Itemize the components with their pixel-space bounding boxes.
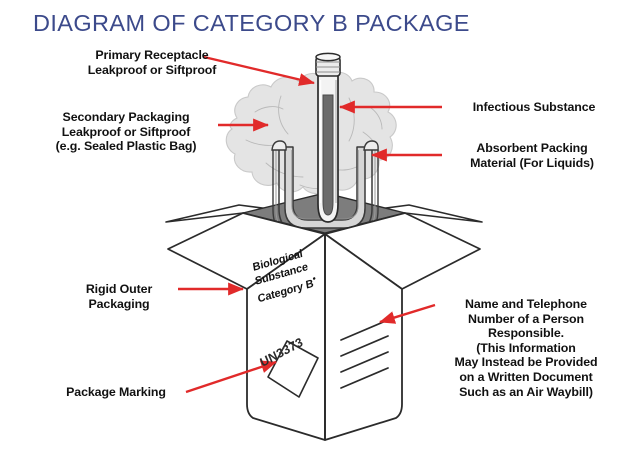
label-infectious-substance: Infectious Substance (452, 100, 616, 115)
secondary-packaging-bag (226, 72, 396, 193)
label-rigid-outer-packaging: Rigid Outer Packaging (60, 282, 178, 311)
label-package-marking: Package Marking (54, 385, 178, 400)
label-name-and-telephone: Name and Telephone Number of a Person Re… (435, 297, 617, 399)
diagram-canvas: DIAGRAM OF CATEGORY B PACKAGE (0, 0, 621, 452)
tube-cap (316, 53, 340, 76)
label-primary-receptacle: Primary Receptacle Leakproof or Siftproo… (52, 48, 252, 77)
primary-receptacle-tube (316, 53, 340, 222)
label-absorbent-packing: Absorbent Packing Material (For Liquids) (447, 141, 617, 170)
label-secondary-packaging: Secondary Packaging Leakproof or Siftpro… (28, 110, 224, 154)
